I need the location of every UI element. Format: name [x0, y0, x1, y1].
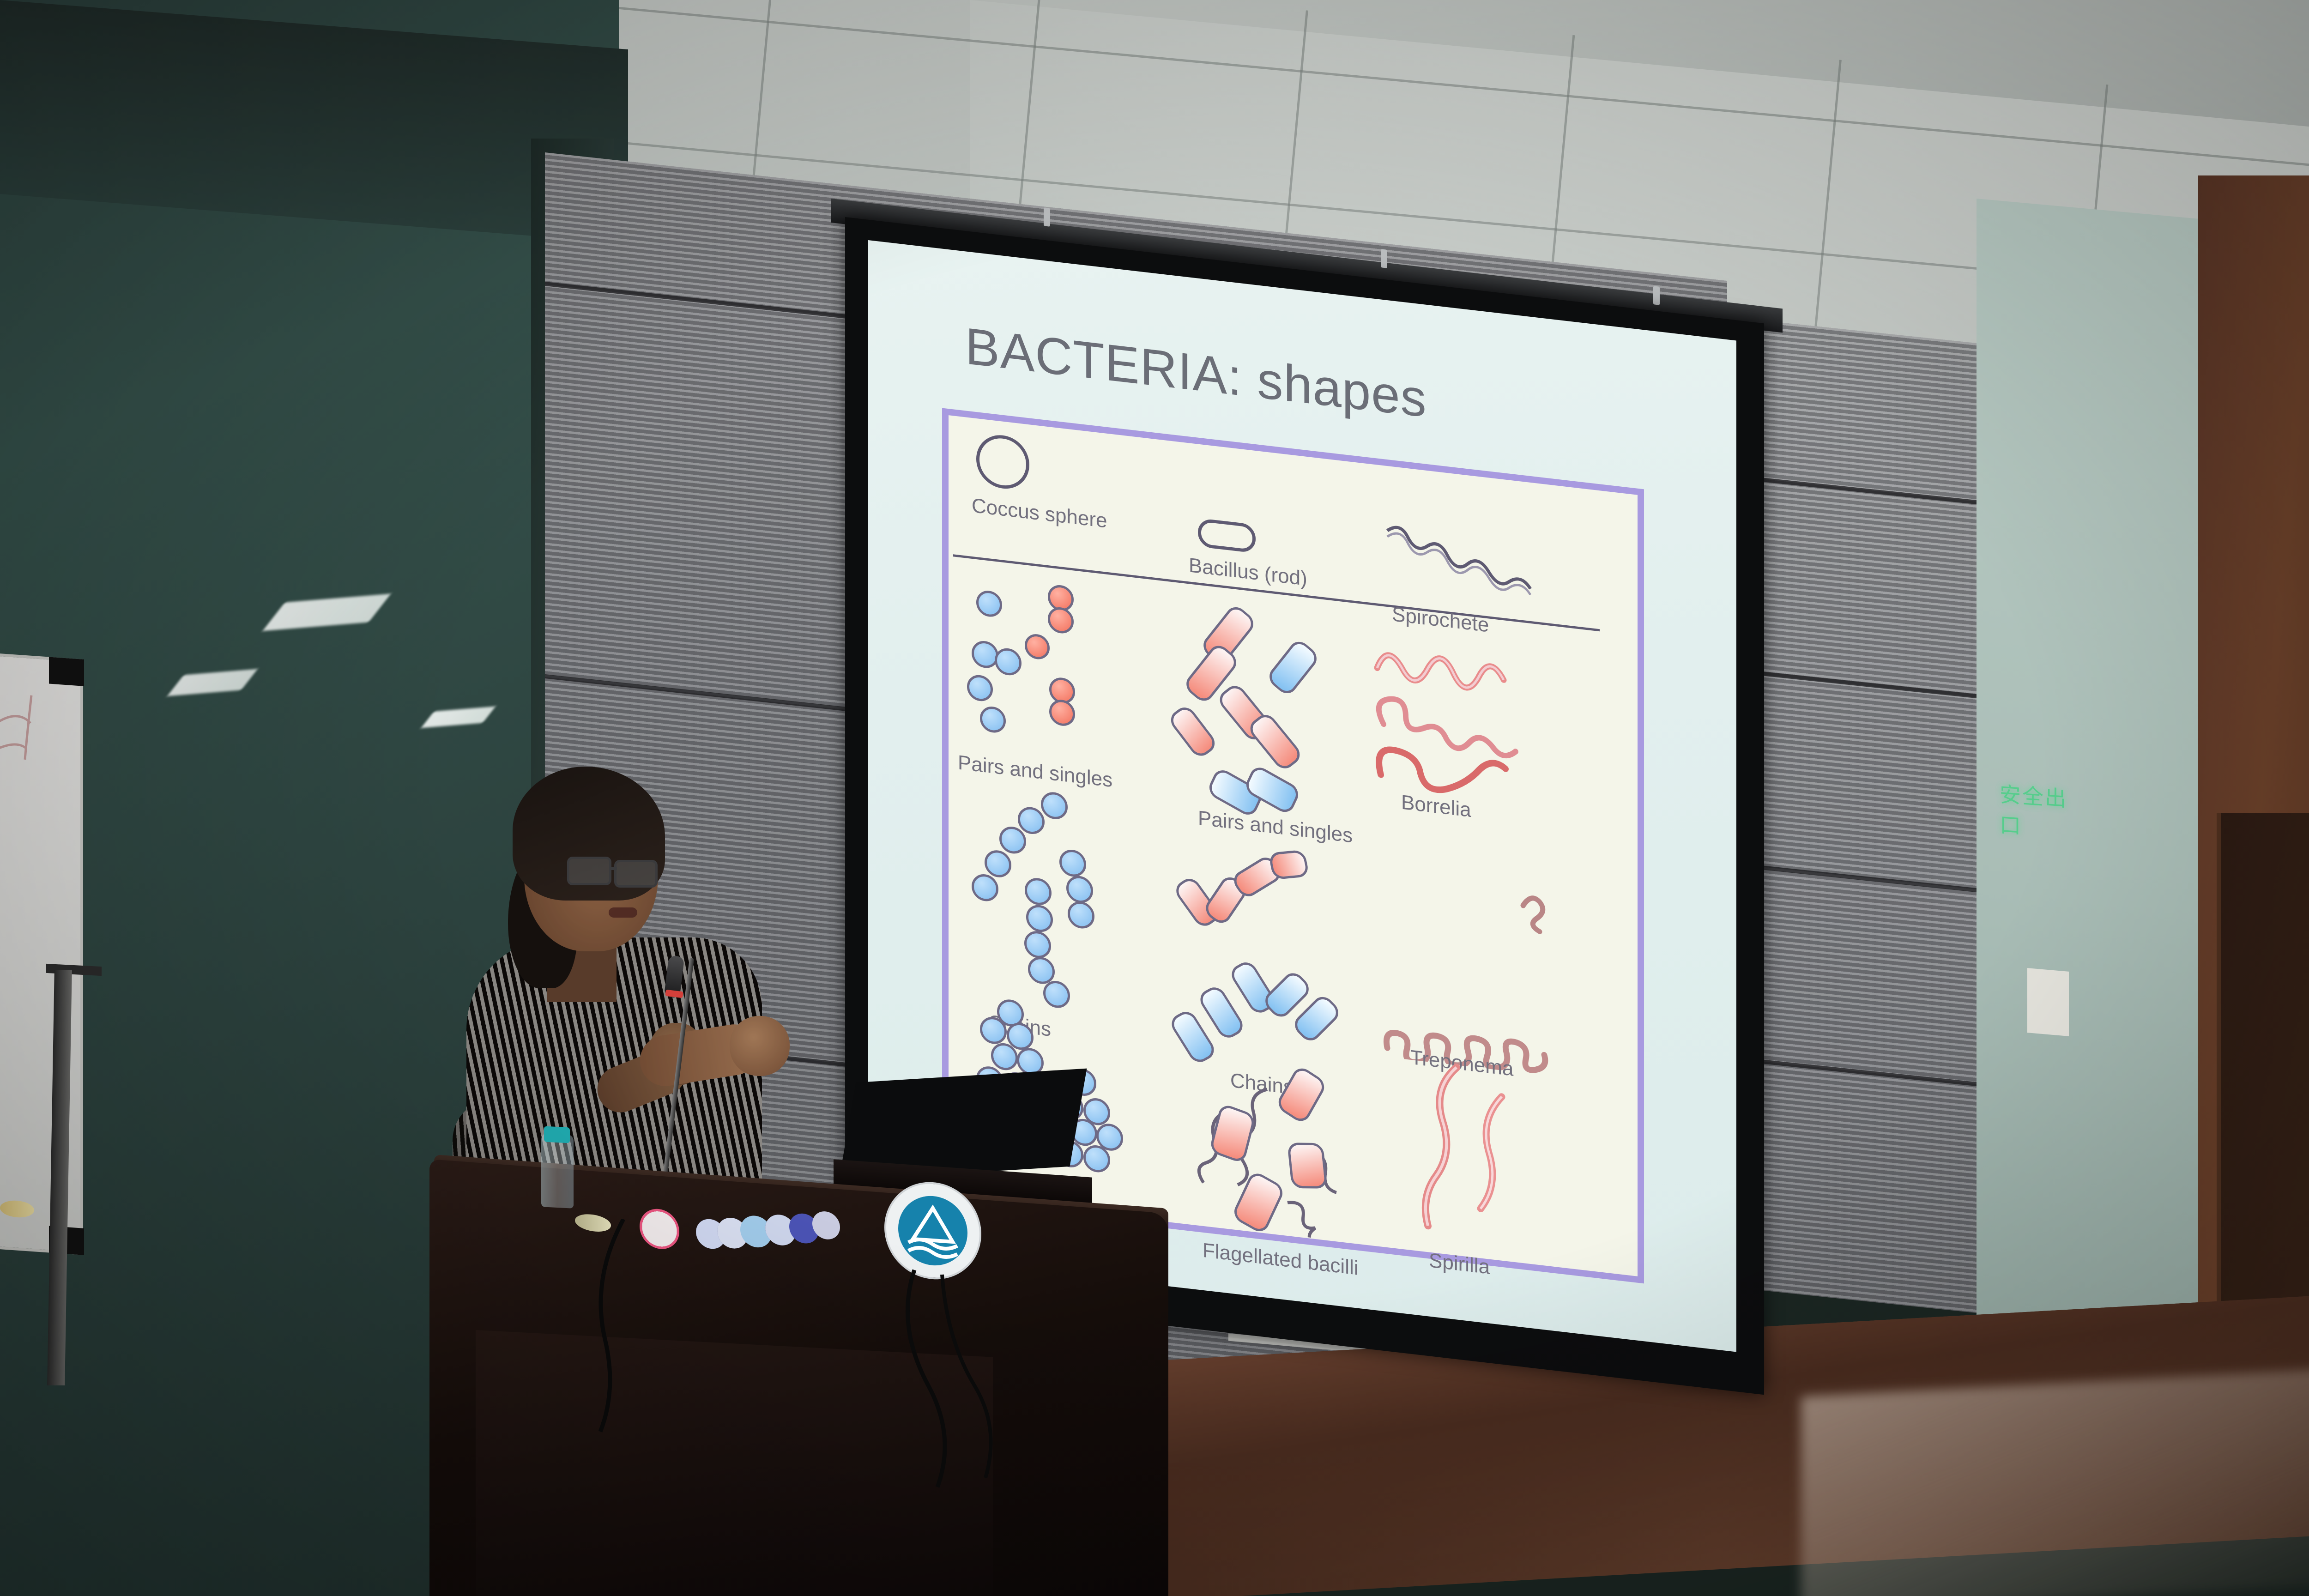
speaker-mouth: [609, 907, 637, 918]
water-bottle[interactable]: [541, 1133, 574, 1209]
lecture-room-photo: 安全出口 BACTERIA: shapes Coccus sphere Baci…: [0, 0, 2309, 1596]
label-coccus-sphere: Coccus sphere: [972, 494, 1107, 533]
crest-disc: [898, 1194, 967, 1268]
cell-treponema: Treponema: [1378, 853, 1563, 1080]
label-cocci-pairs-singles: Pairs and singles: [958, 751, 1112, 792]
borrelia-icon: [1373, 635, 1540, 816]
speaker-right-hand: [730, 1016, 790, 1076]
whiteboard-corner-top: [49, 657, 84, 686]
speaker-glasses-right-lens: [614, 860, 658, 888]
speaker-glasses-left-lens: [567, 857, 611, 885]
cell-borrelia: Borrelia: [1373, 635, 1540, 819]
cell-coccus-sphere: Coccus sphere: [976, 432, 1029, 491]
treponema-icon: [1378, 853, 1563, 1077]
cell-spirilla: Spirilla: [1392, 1055, 1530, 1268]
cell-flagellated-bacilli: Flagellated bacilli: [1189, 1039, 1373, 1247]
cell-bacillus-rod: Bacillus (rod): [1198, 518, 1256, 553]
wall-notice: [2027, 968, 2069, 1036]
spirilla-icon: [1392, 1055, 1530, 1265]
podium-cables: [854, 1265, 1085, 1589]
screen-hook-1: [1044, 207, 1050, 227]
slide-title: BACTERIA: shapes: [965, 316, 1427, 429]
exit-sign: 安全出口: [2000, 778, 2083, 816]
label-flagellated-bacilli: Flagellated bacilli: [1203, 1239, 1359, 1280]
doorway[interactable]: [2217, 813, 2309, 1367]
water-bottle-cap[interactable]: [544, 1126, 570, 1143]
crest-triangle-wave-icon: [898, 1194, 967, 1268]
floor-reflection: [1801, 1365, 2309, 1596]
screen-hook-2: [1381, 249, 1387, 268]
screen-hook-3: [1653, 286, 1660, 305]
label-rod-pairs-singles: Pairs and singles: [1198, 807, 1353, 848]
whiteboard[interactable]: [0, 652, 83, 1255]
speaker-glasses-bridge: [610, 867, 617, 870]
cell-spirochete: Spirochete: [1383, 521, 1535, 633]
whiteboard-marker-writing: [0, 683, 72, 837]
microphone-cable: [531, 1219, 725, 1459]
